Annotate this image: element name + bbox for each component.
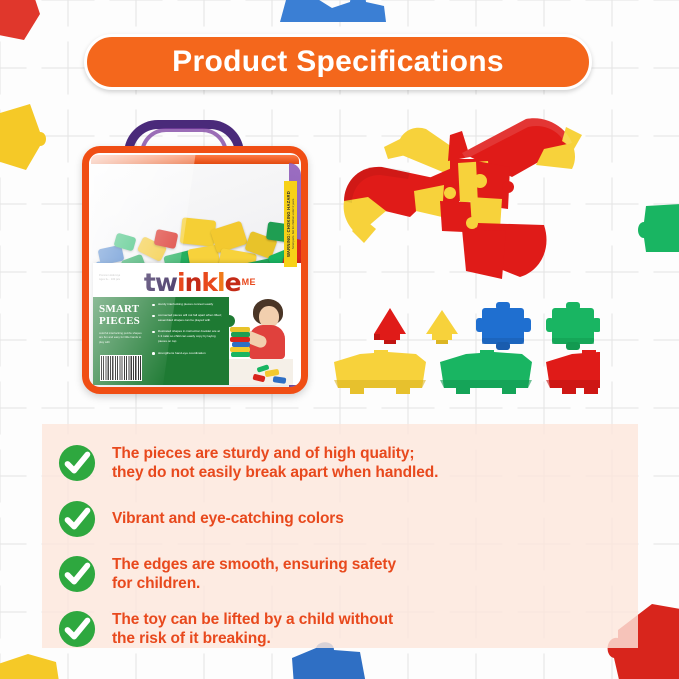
green-fan-piece <box>440 350 532 394</box>
green-check-circle-icon <box>58 444 96 482</box>
green-square-piece <box>546 302 600 350</box>
sample-pieces-display <box>330 300 600 400</box>
red-triangle-piece <box>374 308 406 344</box>
corner-piece-green-right <box>632 194 679 262</box>
feature-item: The toy can be lifted by a child without… <box>42 602 638 656</box>
corner-piece-blue-top <box>272 0 390 26</box>
feature-item: The pieces are sturdy and of high qualit… <box>42 434 638 492</box>
feature-item: Vibrant and eye-catching colors <box>42 492 638 546</box>
red-fan-piece <box>546 350 600 394</box>
features-panel: The pieces are sturdy and of high qualit… <box>42 424 638 648</box>
page-title-banner: Product Specifications <box>84 34 592 90</box>
warning-subtext: Small parts. Not for children under 3 ye… <box>292 198 295 249</box>
green-check-circle-icon <box>58 500 96 538</box>
feature-text: The pieces are sturdy and of high qualit… <box>112 444 438 483</box>
child-playing-photo <box>229 297 293 385</box>
corner-piece-red-top-left <box>0 0 50 46</box>
page-title: Product Specifications <box>172 45 504 79</box>
feature-item: The edges are smooth, ensuring safety fo… <box>42 546 638 602</box>
feature-text: The edges are smooth, ensuring safety fo… <box>112 555 396 594</box>
product-specifications-infographic: Product Specifications <box>0 0 679 679</box>
green-check-circle-icon <box>58 610 96 648</box>
photo-piece-stack <box>230 327 252 361</box>
product-package-image: Premium kids toysAges 3+ · 100 pcs twink… <box>72 118 318 400</box>
blue-square-piece <box>476 302 531 350</box>
yellow-triangle-piece <box>426 310 458 344</box>
yellow-fan-piece <box>334 350 426 394</box>
brand-suffix: ME <box>242 277 257 287</box>
feature-text: Vibrant and eye-catching colors <box>112 509 344 528</box>
choking-hazard-warning: WARNING: CHOKING HAZARD Small parts. Not… <box>284 181 297 267</box>
warning-label: WARNING: CHOKING HAZARD <box>286 191 291 257</box>
green-check-circle-icon <box>58 555 96 593</box>
corner-piece-yellow-left <box>0 98 60 178</box>
vinyl-zip-bag: Premium kids toysAges 3+ · 100 pcs twink… <box>82 146 308 394</box>
feature-text: The toy can be lifted by a child without… <box>112 610 393 649</box>
assembled-pinwheel-shape <box>330 105 590 290</box>
